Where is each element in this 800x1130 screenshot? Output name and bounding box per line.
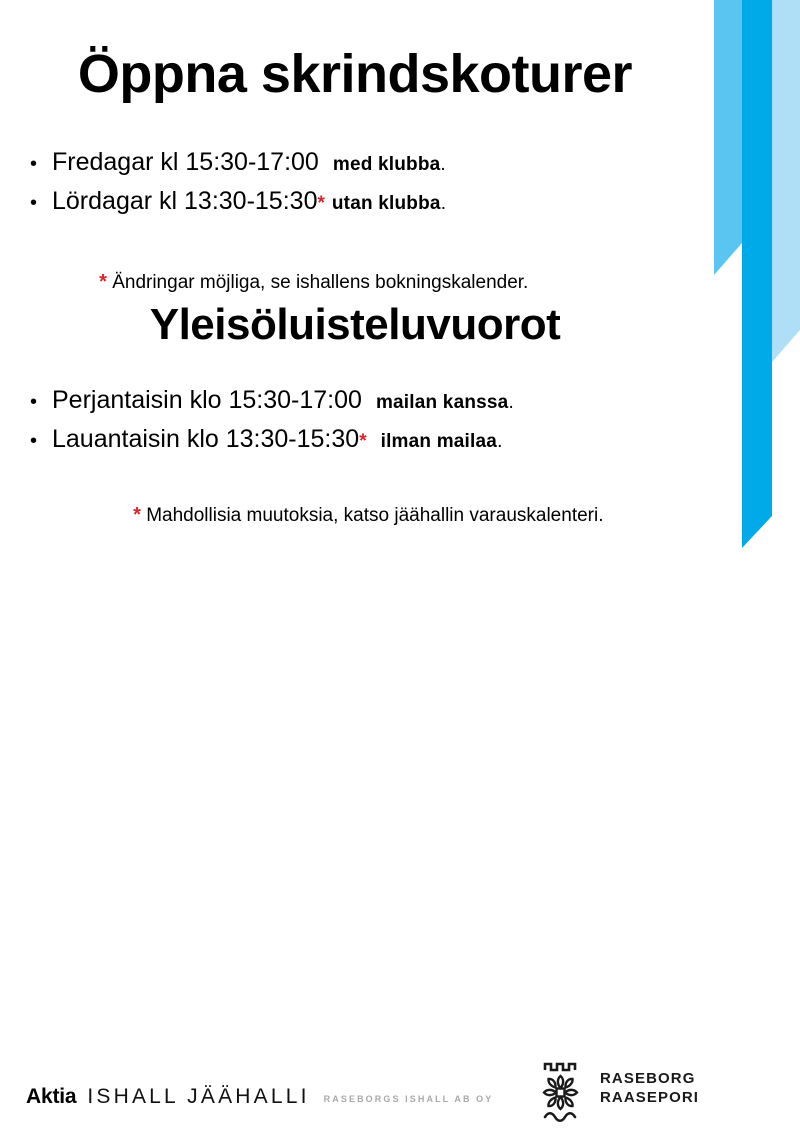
list-item-period: .: [508, 385, 513, 421]
ribbon-band-sky: [714, 0, 742, 275]
list-item: • Lördagar kl 13:30-15:30 * utan klubba …: [24, 183, 446, 222]
list-item-period: .: [440, 147, 445, 183]
list-item-time: Lauantaisin klo 13:30-15:30: [52, 421, 359, 457]
bullet-glyph-icon: •: [24, 185, 52, 221]
list-item: • Lauantaisin klo 13:30-15:30 * ilman ma…: [24, 421, 514, 460]
footer: Aktia ISHALL JÄÄHALLI RASEBORGS ISHALL A…: [0, 529, 800, 599]
list-item-period: .: [497, 424, 502, 460]
ribbon-band-vivid: [742, 0, 772, 548]
decorative-ribbons: [700, 0, 800, 599]
ishall-jaahalli-wordmark: ISHALL JÄÄHALLI: [87, 1085, 309, 1109]
bullet-glyph-icon: •: [24, 384, 52, 420]
raseborg-name-fi: RAASEPORI: [600, 1089, 699, 1106]
list-item-period: .: [441, 186, 446, 222]
list-item-time: Lördagar kl 13:30-15:30: [52, 183, 317, 219]
raseborg-logo: RASEBORG RAASEPORI: [536, 1059, 699, 1125]
asterisk-marker: *: [133, 504, 141, 526]
schedule-list-swedish: • Fredagar kl 15:30-17:00 med klubba . •…: [24, 144, 446, 222]
raseborg-name-sv: RASEBORG: [600, 1070, 695, 1087]
slide-canvas: Öppna skrindskoturer • Fredagar kl 15:30…: [0, 0, 800, 599]
list-item-note: utan klubba: [332, 186, 441, 222]
footnote-text: Mahdollisia muutoksia, katso jäähallin v…: [141, 505, 604, 526]
asterisk-marker: *: [99, 271, 107, 293]
footnote-text: Ändringar möjliga, se ishallens boknings…: [107, 272, 528, 293]
bullet-glyph-icon: •: [24, 146, 52, 182]
schedule-list-finnish: • Perjantaisin klo 15:30-17:00 mailan ka…: [24, 382, 514, 460]
list-item: • Fredagar kl 15:30-17:00 med klubba .: [24, 144, 446, 183]
list-item-time: Fredagar kl 15:30-17:00: [52, 144, 319, 180]
raseborg-crest-icon: [536, 1059, 588, 1125]
page-title-swedish: Öppna skrindskoturer: [0, 42, 710, 106]
company-name-text: RASEBORGS ISHALL AB OY: [324, 1094, 494, 1104]
ribbon-band-pale: [772, 0, 800, 362]
list-item: • Perjantaisin klo 15:30-17:00 mailan ka…: [24, 382, 514, 421]
list-item-note: ilman mailaa: [381, 424, 497, 460]
list-item-note: mailan kanssa: [376, 385, 509, 421]
aktia-wordmark: Aktia: [26, 1085, 76, 1109]
raseborg-wordmark: RASEBORG RAASEPORI: [600, 1069, 699, 1107]
aktia-ishall-logo: Aktia ISHALL JÄÄHALLI RASEBORGS ISHALL A…: [26, 1085, 493, 1109]
list-item-note: med klubba: [333, 147, 441, 183]
page-title-finnish: Yleisöluisteluvuorot: [0, 298, 710, 352]
bullet-glyph-icon: •: [24, 423, 52, 459]
list-item-time: Perjantaisin klo 15:30-17:00: [52, 382, 362, 418]
